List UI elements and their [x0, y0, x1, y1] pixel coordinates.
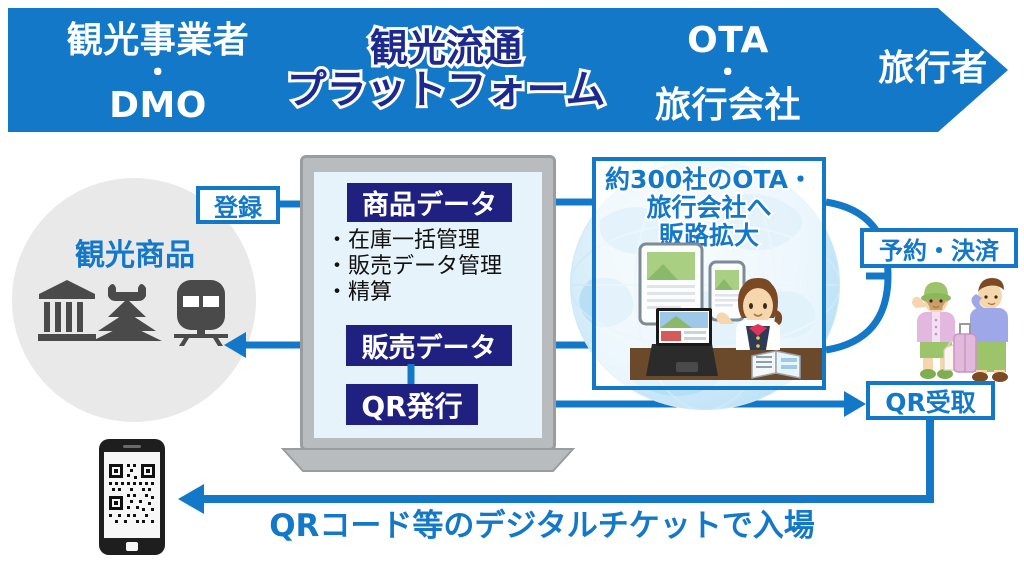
travel-agent-scene	[600, 240, 822, 388]
booking-payment-box: 予約・決済	[860, 228, 1018, 268]
diagram-canvas: 観光事業者 ・ DMO 観光流通 プラットフォーム OTA ・ 旅行会社 旅行者…	[0, 0, 1024, 563]
banner-operators-line1: 観光事業者	[18, 22, 298, 60]
sales-to-qr-connector	[404, 364, 418, 386]
sales-data-box: 販売データ	[346, 325, 512, 366]
banner-ota-line2: 旅行会社	[608, 87, 848, 125]
platform-feature-list: ・在庫一括管理 ・販売データ管理 ・精算	[326, 228, 536, 306]
ota-expansion-text: 約300社のOTA・ 旅行会社へ 販路拡大	[596, 166, 822, 250]
banner-segment-ota: OTA ・ 旅行会社	[608, 22, 848, 125]
banner-operators-line2: DMO	[18, 87, 298, 125]
banner-ota-line1: OTA	[608, 22, 848, 60]
banner-traveler-line1: 旅行者	[843, 50, 1023, 88]
ota-text-line1: 約300社のOTA・	[596, 166, 822, 194]
feature-item-3: ・精算	[326, 280, 536, 306]
register-label-box: 登録	[196, 186, 280, 224]
smartphone-ticket	[98, 438, 166, 556]
banner-operators-sep: ・	[18, 60, 298, 87]
qr-receive-box: QR受取	[866, 381, 995, 420]
qr-issue-box: QR発行	[346, 384, 478, 425]
feature-item-1: ・在庫一括管理	[326, 228, 536, 254]
platform-title-line2: プラットフォーム	[286, 69, 606, 112]
product-data-box: 商品データ	[347, 183, 512, 222]
feature-item-2: ・販売データ管理	[326, 254, 536, 280]
banner-segment-traveler: 旅行者	[843, 50, 1023, 88]
banner-segment-operators: 観光事業者 ・ DMO	[18, 22, 298, 125]
travelers-illustration	[898, 272, 1018, 384]
smartphone-icon	[710, 262, 744, 320]
platform-title-line1: 観光流通	[286, 28, 606, 69]
traveler-man	[954, 278, 1008, 382]
banner-platform-title: 観光流通 プラットフォーム	[286, 28, 606, 112]
bottom-caption: QRコード等のデジタルチケットで入場	[262, 500, 822, 545]
laptop-base	[283, 449, 573, 473]
ota-text-line2: 旅行会社へ	[596, 194, 822, 222]
desk-laptop-icon	[646, 308, 718, 376]
banner-ota-sep: ・	[608, 60, 848, 87]
top-banner: 観光事業者 ・ DMO 観光流通 プラットフォーム OTA ・ 旅行会社 旅行者	[8, 8, 1016, 132]
